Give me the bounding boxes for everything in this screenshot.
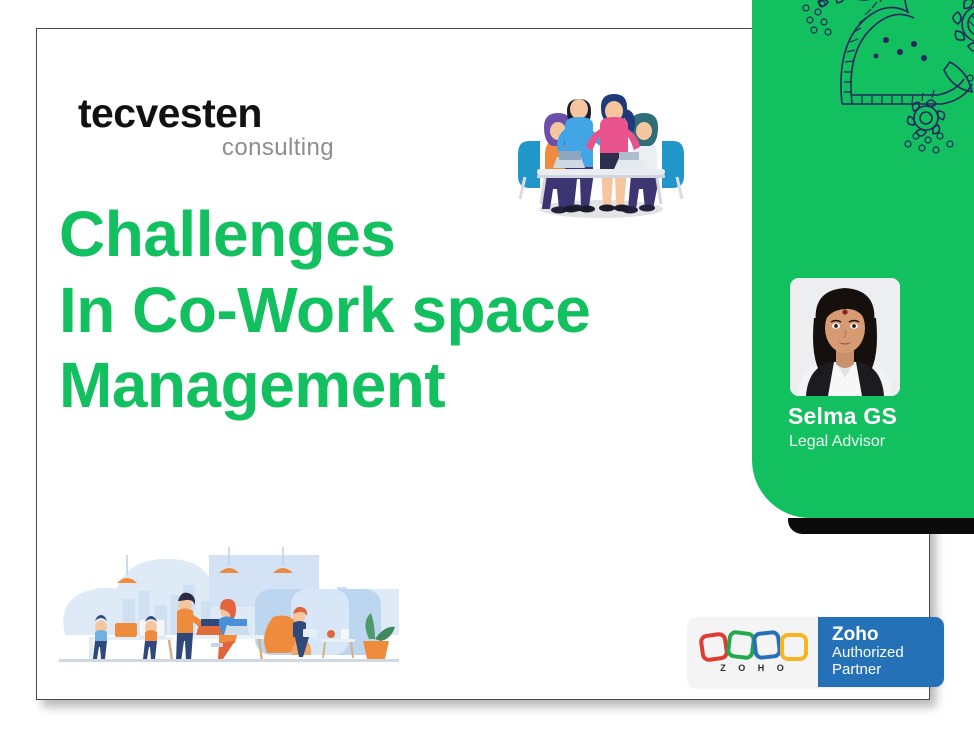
mandala-ornament-icon xyxy=(764,0,974,162)
title-line-1: Challenges xyxy=(59,197,819,273)
zoho-logo-panel: Z O H O xyxy=(688,617,818,687)
device-frame-bar xyxy=(788,518,974,534)
zoho-authorized-label: Authorized xyxy=(832,645,944,662)
speaker-role: Legal Advisor xyxy=(789,433,974,451)
page-title: Challenges In Co-Work space Management xyxy=(59,197,819,424)
title-line-2: In Co-Work space xyxy=(59,273,819,349)
zoho-wordmark: Z O H O xyxy=(688,663,818,673)
brand-logo-tagline: consulting xyxy=(78,136,338,160)
zoho-brand-label: Zoho xyxy=(832,625,944,645)
brand-logo: tecvesten consulting xyxy=(78,93,338,160)
brand-logo-name: tecvesten xyxy=(78,93,338,134)
speaker-name: Selma GS xyxy=(788,404,974,429)
zoho-partner-text-panel: Zoho Authorized Partner xyxy=(818,617,944,687)
speaker-photo xyxy=(790,278,900,396)
title-line-3: Management xyxy=(59,348,819,424)
zoho-partner-label: Partner xyxy=(832,662,944,679)
coworking-office-illustration xyxy=(59,539,399,679)
speaker-panel: Selma GS Legal Advisor xyxy=(752,0,974,518)
zoho-logo-icon xyxy=(699,629,811,663)
zoho-authorized-partner-badge: Z O H O Zoho Authorized Partner xyxy=(688,617,944,687)
